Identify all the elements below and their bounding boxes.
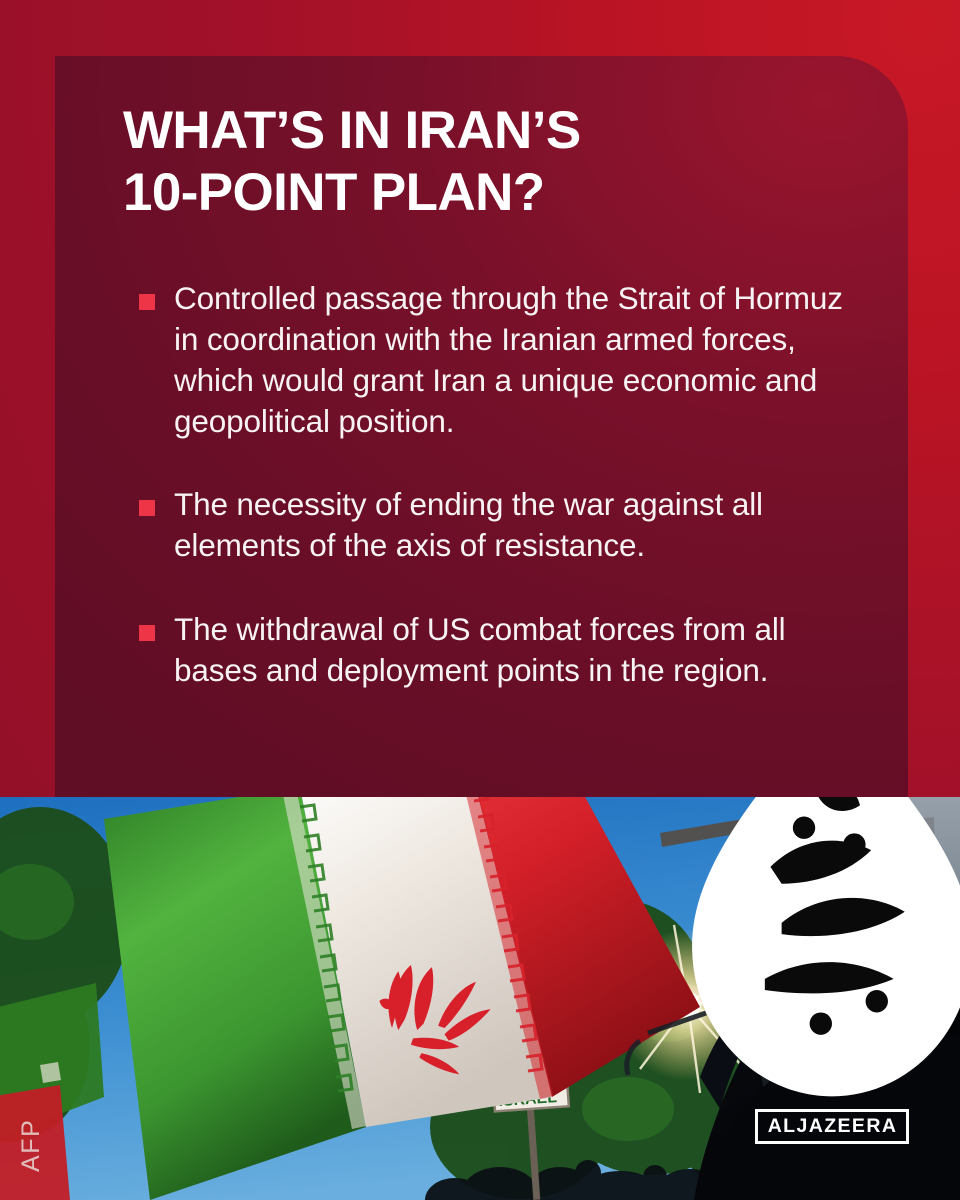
aljazeera-wordmark: ALJAZEERA (755, 1109, 910, 1145)
aljazeera-logo: ALJAZEERA (766, 797, 898, 1144)
photo-credit: AFP (17, 1119, 46, 1172)
aljazeera-flame-icon (352, 797, 960, 1102)
bullet-text: Controlled passage through the Strait of… (174, 278, 874, 442)
infographic-root: WHAT’S IN IRAN’S 10-POINT PLAN? Controll… (0, 0, 960, 1200)
bullet-square-icon (139, 625, 155, 641)
list-item: The necessity of ending the war against … (85, 484, 885, 566)
bullet-list: Controlled passage through the Strait of… (85, 278, 885, 691)
bullet-text: The withdrawal of US combat forces from … (174, 609, 874, 691)
list-item: The withdrawal of US combat forces from … (85, 609, 885, 691)
page-title: WHAT’S IN IRAN’S 10-POINT PLAN? (123, 100, 843, 224)
protest-photograph: NO WAR -FOR- ISRAEL (0, 797, 960, 1200)
content-card: WHAT’S IN IRAN’S 10-POINT PLAN? Controll… (55, 56, 908, 798)
headline-line-2: 10-POINT PLAN? (123, 162, 843, 224)
list-item: Controlled passage through the Strait of… (85, 278, 885, 442)
headline-line-1: WHAT’S IN IRAN’S (123, 100, 843, 162)
bullet-square-icon (139, 294, 155, 310)
bullet-text: The necessity of ending the war against … (174, 484, 874, 566)
bullet-square-icon (139, 500, 155, 516)
